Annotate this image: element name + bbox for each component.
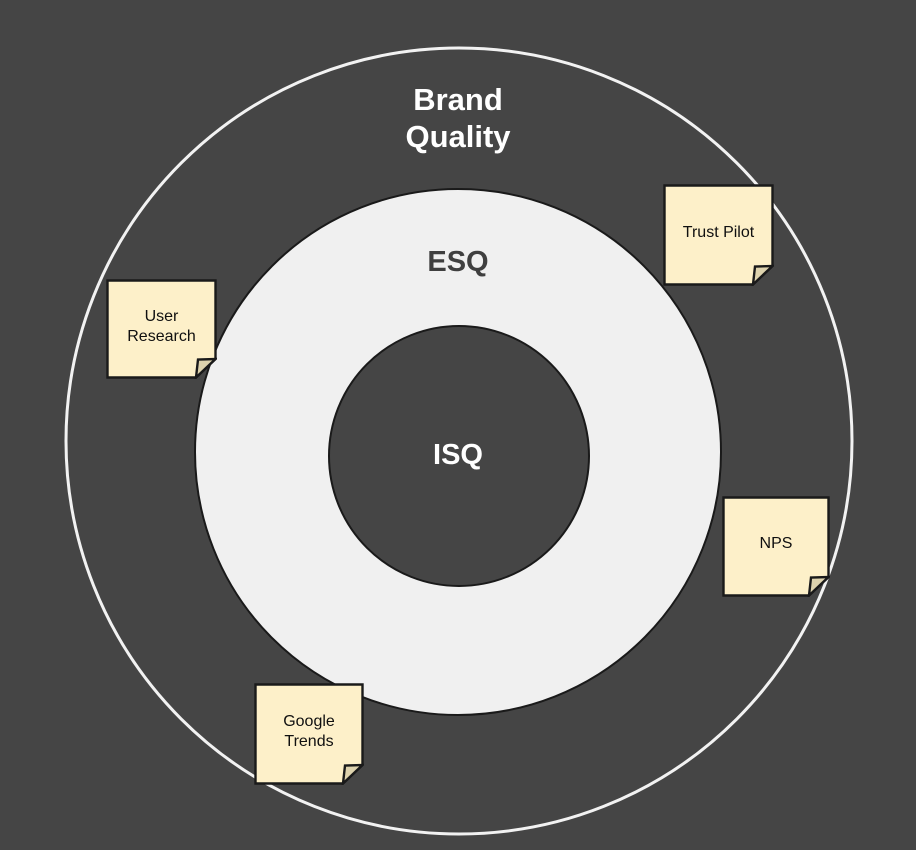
label-isq: ISQ (358, 438, 558, 472)
sticky-note-label: User Research (106, 279, 217, 379)
sticky-note-label: Google Trends (254, 683, 364, 785)
diagram-canvas: Brand Quality ESQ ISQ User Research Trus… (0, 0, 916, 850)
sticky-note-nps[interactable]: NPS (722, 496, 830, 597)
sticky-note-google-trends[interactable]: Google Trends (254, 683, 364, 785)
sticky-note-user-research[interactable]: User Research (106, 279, 217, 379)
label-esq: ESQ (358, 245, 558, 279)
sticky-note-trust-pilot[interactable]: Trust Pilot (663, 184, 774, 286)
sticky-note-label: NPS (722, 496, 830, 597)
sticky-note-label: Trust Pilot (663, 184, 774, 286)
label-brand-quality: Brand Quality (308, 82, 608, 155)
